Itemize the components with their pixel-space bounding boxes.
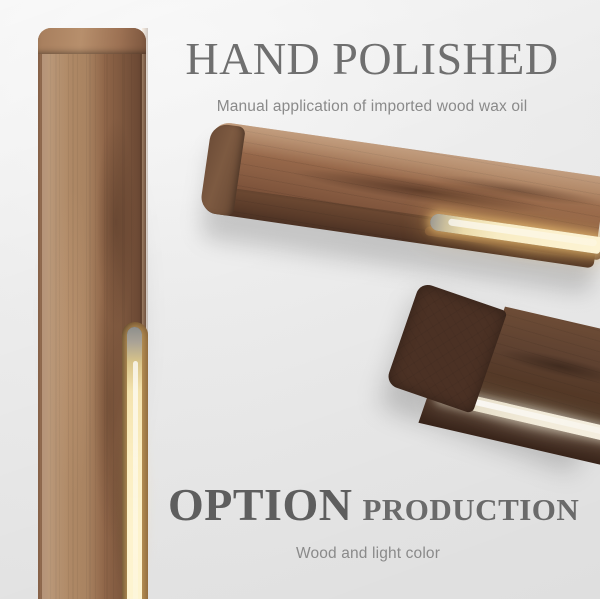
- bottom-headline-primary: OPTION: [168, 479, 352, 530]
- top-right-diagonal-lamp: [206, 118, 600, 268]
- left-lamp-led-channel: [122, 322, 148, 599]
- bottom-text-block: OPTIONPRODUCTION Wood and light color: [168, 482, 568, 562]
- left-lamp-edge-highlight: [42, 30, 68, 599]
- top-text-block: HAND POLISHED Manual application of impo…: [176, 36, 568, 115]
- bottom-headline: OPTIONPRODUCTION: [168, 482, 568, 528]
- bottom-subtitle: Wood and light color: [168, 546, 568, 562]
- bottom-right-diagonal-lamp: [394, 282, 600, 496]
- left-vertical-lamp: [30, 22, 154, 599]
- top-subtitle: Manual application of imported wood wax …: [176, 99, 568, 115]
- product-poster: HAND POLISHED Manual application of impo…: [0, 0, 600, 599]
- top-headline: HAND POLISHED: [176, 36, 568, 82]
- left-lamp-led-gloss: [133, 361, 138, 599]
- left-lamp-top-cap: [38, 28, 146, 54]
- bottom-headline-secondary: PRODUCTION: [362, 492, 579, 527]
- left-lamp-led-strip: [127, 327, 142, 599]
